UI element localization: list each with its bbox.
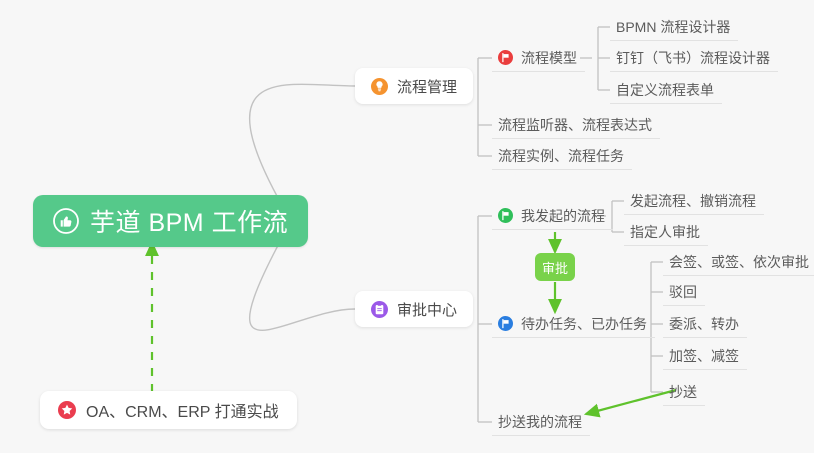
node-reject[interactable]: 驳回 bbox=[663, 278, 705, 306]
node-label-process-instance-task: 流程实例、流程任务 bbox=[498, 146, 624, 166]
lightbulb-icon bbox=[371, 78, 388, 95]
node-assignee-approval[interactable]: 指定人审批 bbox=[624, 218, 708, 246]
node-label-todo-done-task: 待办任务、已办任务 bbox=[521, 314, 647, 334]
flag-icon bbox=[498, 50, 513, 65]
approval-tag-label: 审批 bbox=[542, 258, 568, 277]
node-label-my-started-process: 我发起的流程 bbox=[521, 206, 605, 226]
node-label-custom-process-form: 自定义流程表单 bbox=[616, 80, 714, 100]
node-start-cancel-process[interactable]: 发起流程、撤销流程 bbox=[624, 187, 764, 215]
node-label-start-cancel-process: 发起流程、撤销流程 bbox=[630, 191, 756, 211]
node-label-add-remove-sign: 加签、减签 bbox=[669, 346, 739, 366]
edge-root-to-approval-center bbox=[250, 236, 355, 330]
node-label-counter-or-sequential-sign: 会签、或签、依次审批 bbox=[669, 252, 809, 272]
node-process-model[interactable]: 流程模型 bbox=[492, 44, 585, 72]
clipboard-icon bbox=[371, 301, 388, 318]
branch-node-approval-center[interactable]: 审批中心 bbox=[355, 291, 473, 327]
node-label-process-model: 流程模型 bbox=[521, 48, 577, 68]
root-node[interactable]: 芋道 BPM 工作流 bbox=[33, 195, 308, 247]
callout-node-integration[interactable]: OA、CRM、ERP 打通实战 bbox=[40, 391, 297, 429]
node-todo-done-task[interactable]: 待办任务、已办任务 bbox=[492, 310, 655, 338]
thumbs-up-icon bbox=[53, 208, 79, 234]
node-label-bpmn-designer: BPMN 流程设计器 bbox=[616, 17, 730, 37]
node-process-listener-expression[interactable]: 流程监听器、流程表达式 bbox=[492, 111, 660, 139]
node-label-dingtalk-feishu-designer: 钉钉（飞书）流程设计器 bbox=[616, 48, 770, 68]
mindmap-canvas: 芋道 BPM 工作流 流程管理 流程模型 流程监听器、流程表达式 流程实例、流 bbox=[0, 0, 814, 453]
node-dingtalk-feishu-designer[interactable]: 钉钉（飞书）流程设计器 bbox=[610, 44, 778, 72]
branch-label-approval-center: 审批中心 bbox=[397, 299, 457, 320]
callout-label-integration: OA、CRM、ERP 打通实战 bbox=[86, 398, 279, 422]
root-label: 芋道 BPM 工作流 bbox=[90, 203, 288, 239]
node-custom-process-form[interactable]: 自定义流程表单 bbox=[610, 76, 722, 104]
node-delegate-transfer[interactable]: 委派、转办 bbox=[663, 310, 747, 338]
node-bpmn-designer[interactable]: BPMN 流程设计器 bbox=[610, 13, 738, 41]
node-label-carbon-copy: 抄送 bbox=[669, 382, 697, 402]
node-label-reject: 驳回 bbox=[669, 282, 697, 302]
node-cc-to-me-process[interactable]: 抄送我的流程 bbox=[492, 408, 590, 436]
node-carbon-copy[interactable]: 抄送 bbox=[663, 378, 705, 406]
node-add-remove-sign[interactable]: 加签、减签 bbox=[663, 342, 747, 370]
node-counter-or-sequential-sign[interactable]: 会签、或签、依次审批 bbox=[663, 248, 814, 276]
node-label-cc-to-me-process: 抄送我的流程 bbox=[498, 412, 582, 432]
star-icon bbox=[58, 401, 76, 419]
branch-label-process-management: 流程管理 bbox=[397, 76, 457, 97]
flag-icon bbox=[498, 316, 513, 331]
node-label-assignee-approval: 指定人审批 bbox=[630, 222, 700, 242]
node-label-delegate-transfer: 委派、转办 bbox=[669, 314, 739, 334]
node-label-process-listener-expression: 流程监听器、流程表达式 bbox=[498, 115, 652, 135]
branch-node-process-management[interactable]: 流程管理 bbox=[355, 68, 473, 104]
flag-icon bbox=[498, 208, 513, 223]
node-my-started-process[interactable]: 我发起的流程 bbox=[492, 202, 613, 230]
node-process-instance-task[interactable]: 流程实例、流程任务 bbox=[492, 142, 632, 170]
approval-tag[interactable]: 审批 bbox=[535, 253, 575, 281]
edge-root-to-process-management bbox=[250, 84, 355, 207]
